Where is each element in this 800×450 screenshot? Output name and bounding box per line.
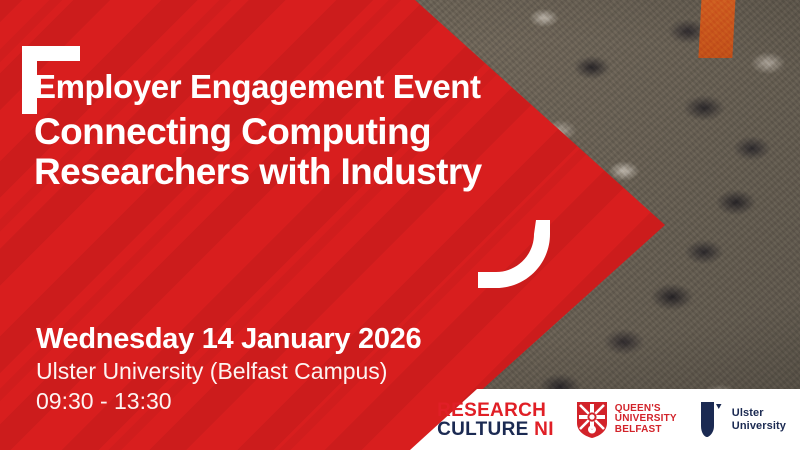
event-date: Wednesday 14 January 2026 — [36, 322, 421, 357]
curved-hook-swoosh-icon — [478, 218, 552, 290]
event-venue: Ulster University (Belfast Campus) — [36, 357, 421, 386]
ulster-university-logo: Ulster University — [699, 400, 786, 440]
rcni-suffix: NI — [534, 419, 554, 440]
uu-line1: Ulster — [732, 407, 786, 419]
queens-wordmark: QUEEN'S UNIVERSITY BELFAST — [615, 404, 677, 436]
rcni-line2: CULTURE NI — [437, 420, 554, 439]
uu-line2: University — [732, 420, 786, 432]
ulster-wordmark: Ulster University — [732, 407, 786, 431]
event-headline: Connecting Computing Researchers with In… — [34, 112, 504, 191]
partner-logos: RESEARCH CULTURE NI QUEEN'S UNIVERSITY B… — [0, 389, 800, 450]
qub-line3: BELFAST — [615, 425, 677, 436]
queens-shield-crest-icon — [576, 401, 608, 439]
queens-university-logo: QUEEN'S UNIVERSITY BELFAST — [576, 401, 677, 439]
research-culture-ni-logo: RESEARCH CULTURE NI — [437, 401, 554, 439]
event-type-label: Employer Engagement Event — [34, 68, 481, 106]
ulster-u-mark-icon — [699, 400, 725, 440]
rcni-line1: RESEARCH — [437, 401, 554, 420]
event-banner: Employer Engagement Event Connecting Com… — [0, 0, 800, 450]
